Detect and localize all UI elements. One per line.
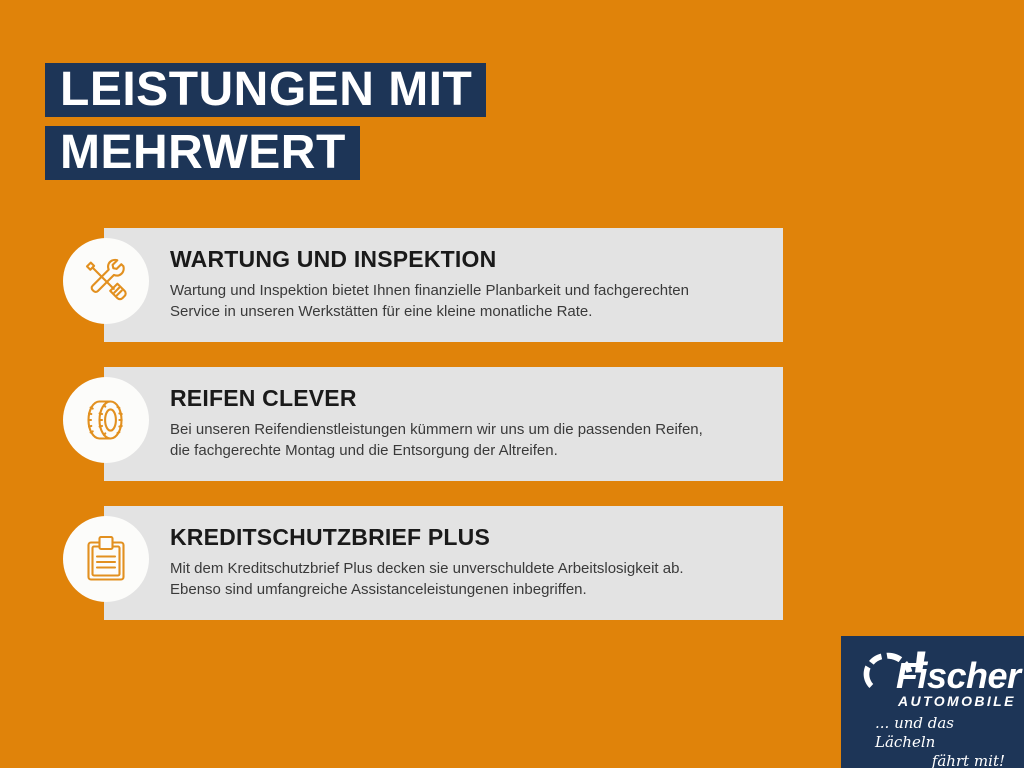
service-card-description-line-2: die fachgerechte Montag und die Entsorgu… [170, 440, 755, 461]
wrench-screwdriver-icon [80, 255, 132, 307]
logo-slogan-line-1: ... und das Lächeln [867, 714, 1019, 752]
tire-icon [80, 394, 132, 446]
service-card-description-line-1: Wartung und Inspektion bietet Ihnen fina… [170, 280, 755, 301]
service-icon-badge [63, 377, 149, 463]
logo-subtitle: AUTOMOBILE [898, 694, 1016, 708]
service-card-description: Wartung und Inspektion bietet Ihnen fina… [170, 280, 755, 322]
slide-canvas: LEISTUNGEN MIT MEHRWERT WARTUNG UND INSP… [0, 0, 1024, 768]
service-card-text: KREDITSCHUTZBRIEF PLUS Mit dem Kreditsch… [170, 524, 755, 600]
service-icon-badge [63, 516, 149, 602]
page-title: LEISTUNGEN MIT MEHRWERT [45, 63, 486, 180]
service-card-text: REIFEN CLEVER Bei unseren Reifendienstle… [170, 385, 755, 461]
page-title-line-1: LEISTUNGEN MIT [45, 63, 486, 117]
service-card-text: WARTUNG UND INSPEKTION Wartung und Inspe… [170, 246, 755, 322]
service-card-reifen-clever: REIFEN CLEVER Bei unseren Reifendienstle… [104, 367, 783, 481]
logo-wordmark: Fischer [896, 658, 1021, 694]
service-card-description-line-2: Ebenso sind umfangreiche Assistanceleist… [170, 579, 755, 600]
logo-slogan: ... und das Lächeln fährt mit! [867, 714, 1019, 768]
service-card-description-line-1: Mit dem Kreditschutzbrief Plus decken si… [170, 558, 755, 579]
service-card-description-line-1: Bei unseren Reifendienstleistungen kümme… [170, 419, 755, 440]
service-card-kreditschutzbrief-plus: KREDITSCHUTZBRIEF PLUS Mit dem Kreditsch… [104, 506, 783, 620]
service-card-description: Bei unseren Reifendienstleistungen kümme… [170, 419, 755, 461]
page-title-line-2: MEHRWERT [45, 126, 360, 180]
clipboard-icon [81, 533, 131, 585]
brand-logo: Fischer AUTOMOBILE ... und das Lächeln f… [841, 636, 1024, 768]
logo-slogan-line-2: fährt mit! [867, 752, 1019, 768]
service-card-title: REIFEN CLEVER [170, 385, 755, 412]
service-card-description: Mit dem Kreditschutzbrief Plus decken si… [170, 558, 755, 600]
service-card-title: WARTUNG UND INSPEKTION [170, 246, 755, 273]
service-card-wartung-und-inspektion: WARTUNG UND INSPEKTION Wartung und Inspe… [104, 228, 783, 342]
service-icon-badge [63, 238, 149, 324]
service-card-description-line-2: Service in unseren Werkstätten für eine … [170, 301, 755, 322]
service-card-title: KREDITSCHUTZBRIEF PLUS [170, 524, 755, 551]
